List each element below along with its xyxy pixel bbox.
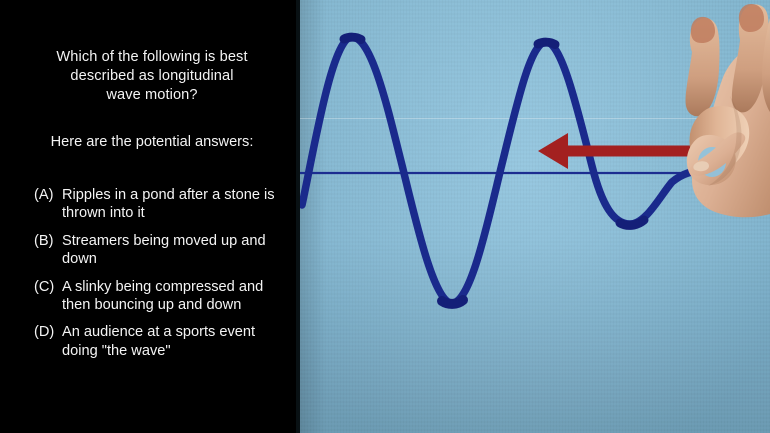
answer-options-list: (A) Ripples in a pond after a stone is t… (34, 186, 290, 369)
wave-crest-accent-2 (538, 42, 555, 44)
option-b-label: (B) (34, 232, 62, 250)
question-panel: Which of the following is best described… (0, 0, 300, 433)
arrow-head (538, 133, 568, 169)
answer-option-b[interactable]: (B) Streamers being moved up and down (34, 232, 290, 269)
option-c-text: A slinky being compressed and then bounc… (62, 278, 290, 315)
question-text: Which of the following is best described… (18, 48, 286, 105)
question-line-3: wave motion? (18, 86, 286, 105)
option-a-label: (A) (34, 186, 62, 204)
arrow-shaft (568, 146, 690, 157)
wave-trough-accent-1 (442, 300, 463, 304)
wave-curve (302, 37, 704, 303)
answer-option-c[interactable]: (C) A slinky being compressed and then b… (34, 278, 290, 315)
option-d-text: An audience at a sports event doing "the… (62, 323, 290, 360)
question-line-1: Which of the following is best (18, 48, 286, 67)
answers-intro-text: Here are the potential answers: (18, 133, 286, 152)
option-b-text: Streamers being moved up and down (62, 232, 290, 269)
option-c-label: (C) (34, 278, 62, 296)
answer-option-a[interactable]: (A) Ripples in a pond after a stone is t… (34, 186, 290, 223)
direction-arrow (538, 133, 690, 169)
wave-trough-accent-2 (620, 220, 644, 225)
question-line-2: described as longitudinal (18, 67, 286, 86)
answer-option-d[interactable]: (D) An audience at a sports event doing … (34, 323, 290, 360)
wave-diagram (300, 0, 770, 433)
slide-screen: Which of the following is best described… (0, 0, 770, 433)
option-d-label: (D) (34, 323, 62, 341)
option-a-text: Ripples in a pond after a stone is throw… (62, 186, 290, 223)
wave-crest-accent-1 (344, 37, 361, 39)
demonstration-board (300, 0, 770, 433)
